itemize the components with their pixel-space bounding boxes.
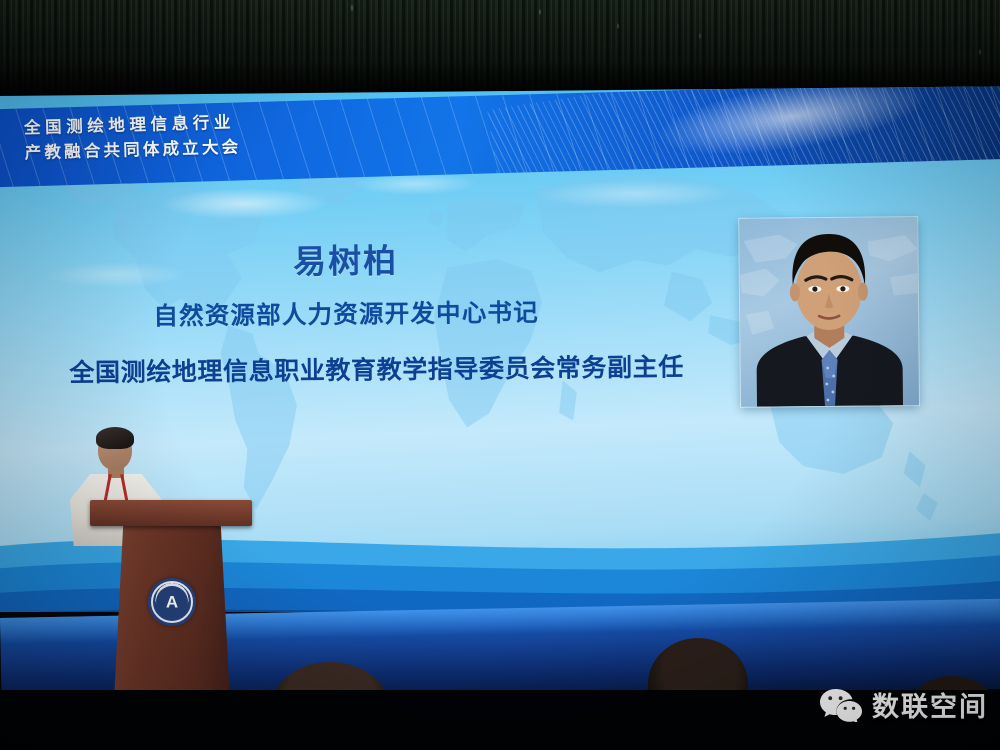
speaker-role-line2: 全国测绘地理信息职业教育教学指导委员会常务副主任 [6, 347, 746, 390]
watermark-label: 数联空间 [872, 685, 988, 724]
podium-emblem-icon: A [148, 578, 196, 626]
speaker-portrait-photo [739, 217, 919, 407]
podium: A [96, 500, 246, 715]
speaker-name: 易树柏 [0, 231, 696, 286]
portrait-figure [739, 217, 919, 407]
event-title: 全国测绘地理信息行业 产教融合共同体成立大会 [24, 110, 242, 166]
speaker-hair [96, 427, 134, 449]
emblem-glyph: A [166, 594, 178, 611]
watermark: 数联空间 [819, 685, 988, 724]
wechat-icon [819, 688, 863, 722]
podium-top [90, 500, 252, 526]
photo-scene: 全国测绘地理信息行业 产教融合共同体成立大会 易树柏 自然资源部人力资源开发中心… [0, 0, 1000, 750]
speaker-role-line1: 自然资源部人力资源开发中心书记 [0, 292, 696, 334]
